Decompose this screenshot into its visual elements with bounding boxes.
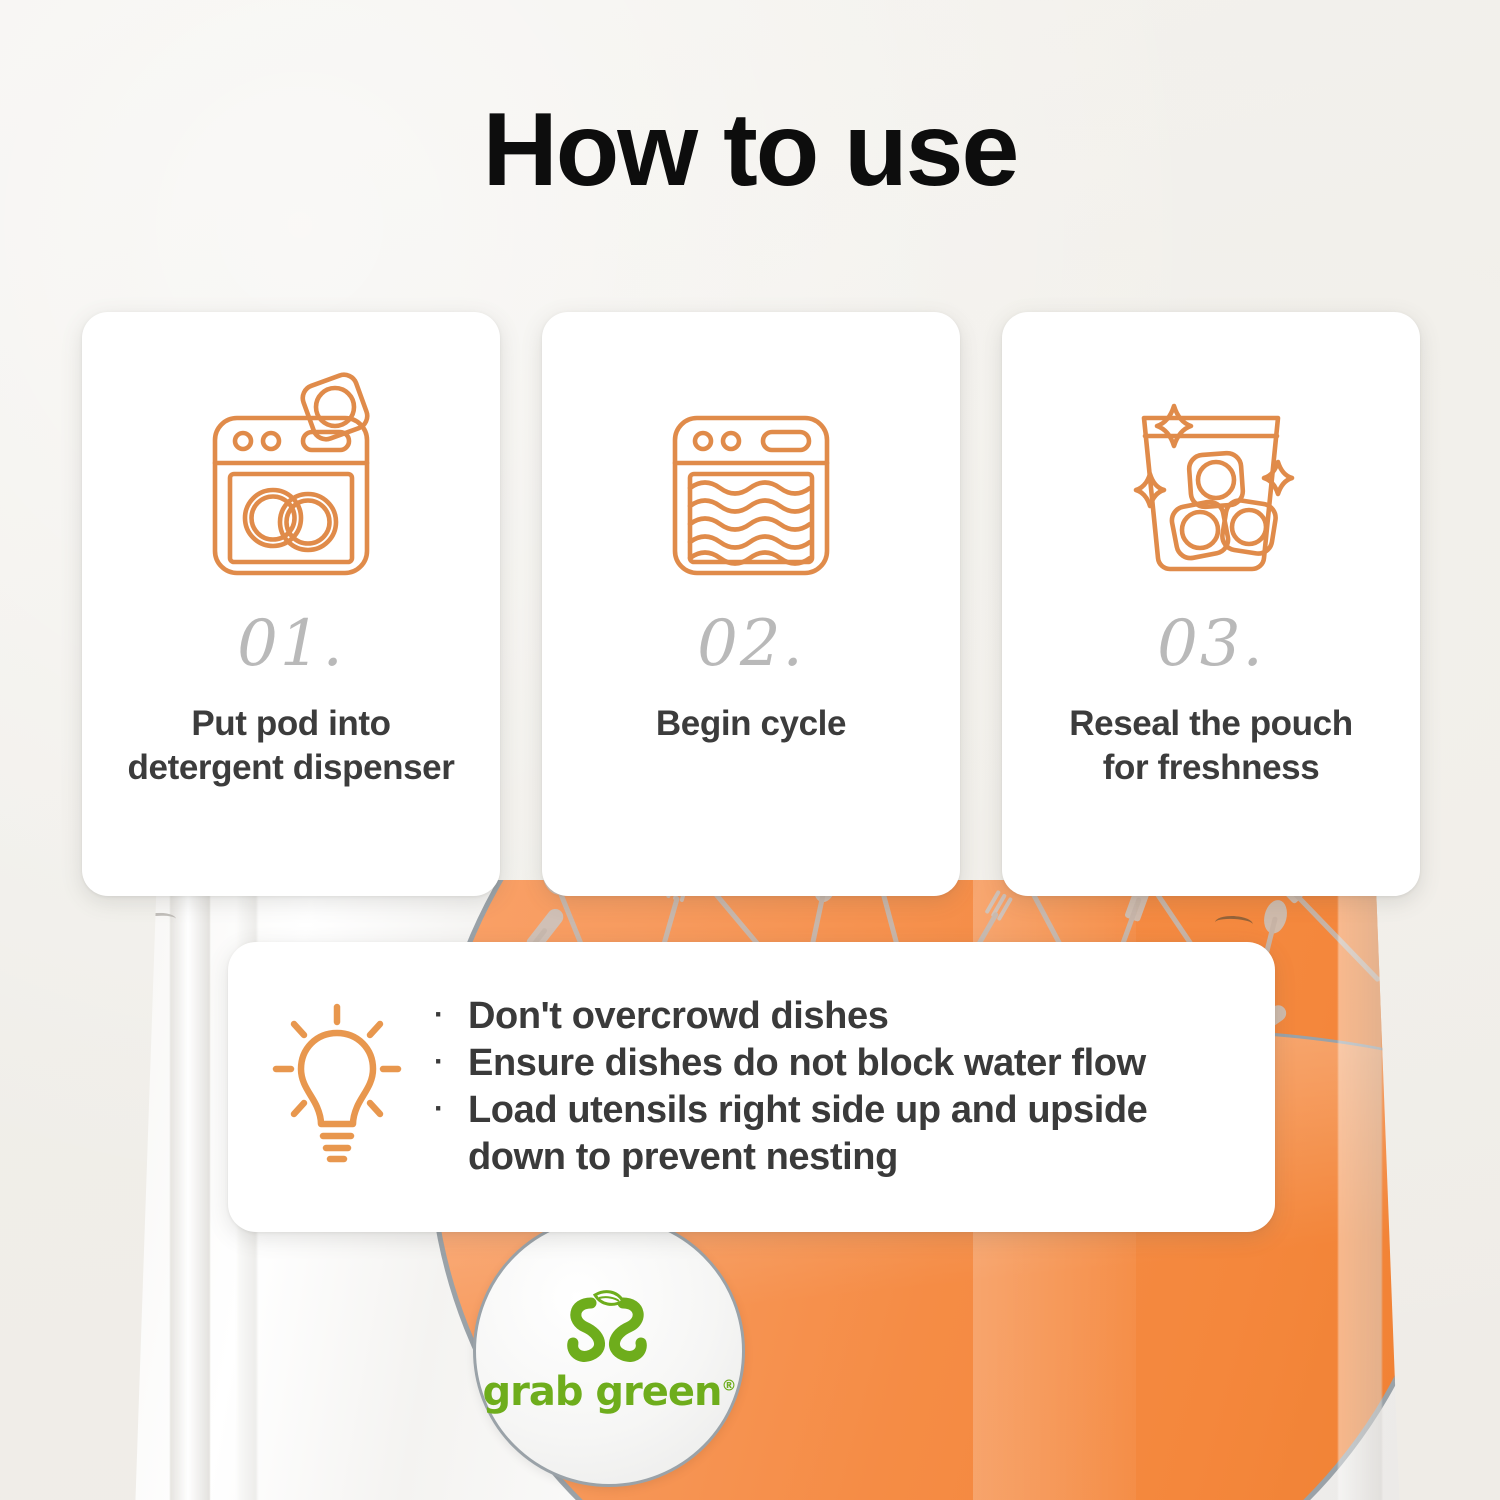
tips-card[interactable]: · Don't overcrowd dishes · Ensure dishes… bbox=[228, 942, 1275, 1232]
step-2-label: Begin cycle bbox=[640, 702, 862, 746]
step-2-number: 02. bbox=[697, 612, 805, 676]
pouch-right-seam bbox=[1338, 880, 1382, 1500]
tip-item: · Ensure dishes do not block water flow bbox=[434, 1040, 1249, 1087]
tip-text: Load utensils right side up and upside d… bbox=[468, 1087, 1249, 1181]
brand-name: grab green® bbox=[482, 1369, 735, 1415]
grab-green-mark-icon bbox=[555, 1287, 663, 1365]
registered-mark: ® bbox=[722, 1377, 736, 1395]
tip-bullet: · bbox=[434, 1087, 468, 1131]
brand-logo-badge: grab green® bbox=[473, 1215, 745, 1487]
tip-text: Ensure dishes do not block water flow bbox=[468, 1040, 1249, 1087]
step-1-number: 01. bbox=[237, 612, 345, 676]
tips-list: · Don't overcrowd dishes · Ensure dishes… bbox=[412, 993, 1249, 1181]
tip-bullet: · bbox=[434, 993, 468, 1037]
tip-item: · Load utensils right side up and upside… bbox=[434, 1087, 1249, 1181]
step-3-number: 03. bbox=[1157, 612, 1265, 676]
step-1-icon-wrap bbox=[186, 370, 396, 600]
tips-icon-wrap bbox=[262, 1003, 412, 1171]
step-card-1[interactable]: 01. Put pod intodetergent dispenser bbox=[82, 312, 500, 896]
page-title: How to use bbox=[0, 96, 1500, 205]
pouch-load-count: 60 LOADS bbox=[118, 1496, 1408, 1500]
dishwasher-running-icon bbox=[646, 370, 856, 600]
tip-bullet: · bbox=[434, 1040, 468, 1084]
resealable-pouch-icon bbox=[1106, 370, 1316, 600]
step-card-2[interactable]: 02. Begin cycle bbox=[542, 312, 960, 896]
tip-text: Don't overcrowd dishes bbox=[468, 993, 1249, 1040]
step-2-icon-wrap bbox=[646, 370, 856, 600]
dishwasher-with-pod-icon bbox=[186, 370, 396, 600]
step-card-3[interactable]: 03. Reseal the pouchfor freshness bbox=[1002, 312, 1420, 896]
step-1-label: Put pod intodetergent dispenser bbox=[112, 702, 471, 790]
step-3-label: Reseal the pouchfor freshness bbox=[1053, 702, 1368, 790]
step-3-icon-wrap bbox=[1106, 370, 1316, 600]
lightbulb-icon bbox=[272, 1003, 402, 1171]
pouch-left-seam bbox=[170, 880, 210, 1500]
tip-item: · Don't overcrowd dishes bbox=[434, 993, 1249, 1040]
